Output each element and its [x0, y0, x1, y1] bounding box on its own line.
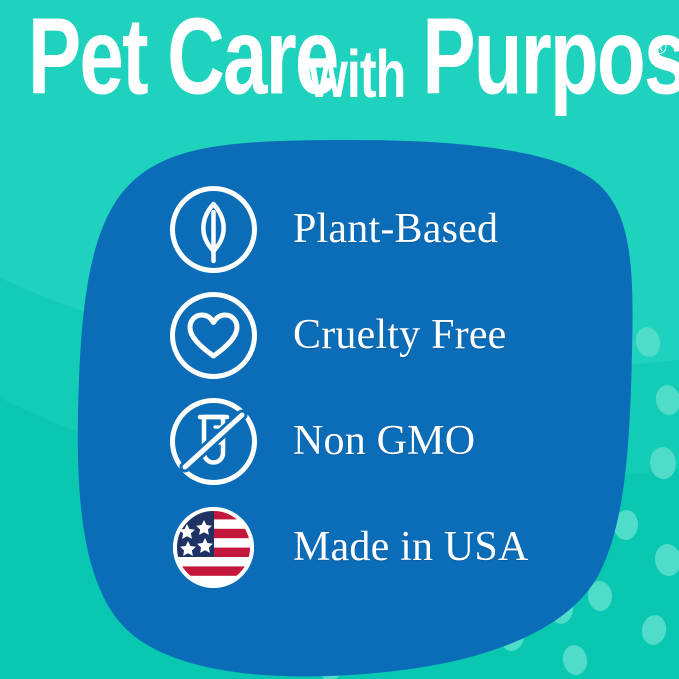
feature-row-cruelty-free: Cruelty Free: [166, 282, 586, 388]
pet-care-with-purpose-graphic: Pet Care with Purpose ® Plant-Based: [0, 0, 679, 679]
feature-label-cruelty-free: Cruelty Free: [293, 314, 507, 356]
leaf-icon: [166, 182, 261, 277]
feature-badge-list: Plant-Based Cruelty Free: [166, 176, 586, 600]
feature-label-made-in-usa: Made in USA: [293, 526, 529, 568]
feature-label-plant-based: Plant-Based: [293, 208, 498, 250]
no-test-tube-icon: [166, 394, 261, 489]
feature-row-plant-based: Plant-Based: [166, 176, 586, 282]
feature-row-made-in-usa: Made in USA: [166, 494, 586, 600]
heart-icon: [166, 288, 261, 383]
feature-label-non-gmo: Non GMO: [293, 420, 475, 462]
feature-row-non-gmo: Non GMO: [166, 388, 586, 494]
usa-flag-icon: [166, 500, 261, 595]
